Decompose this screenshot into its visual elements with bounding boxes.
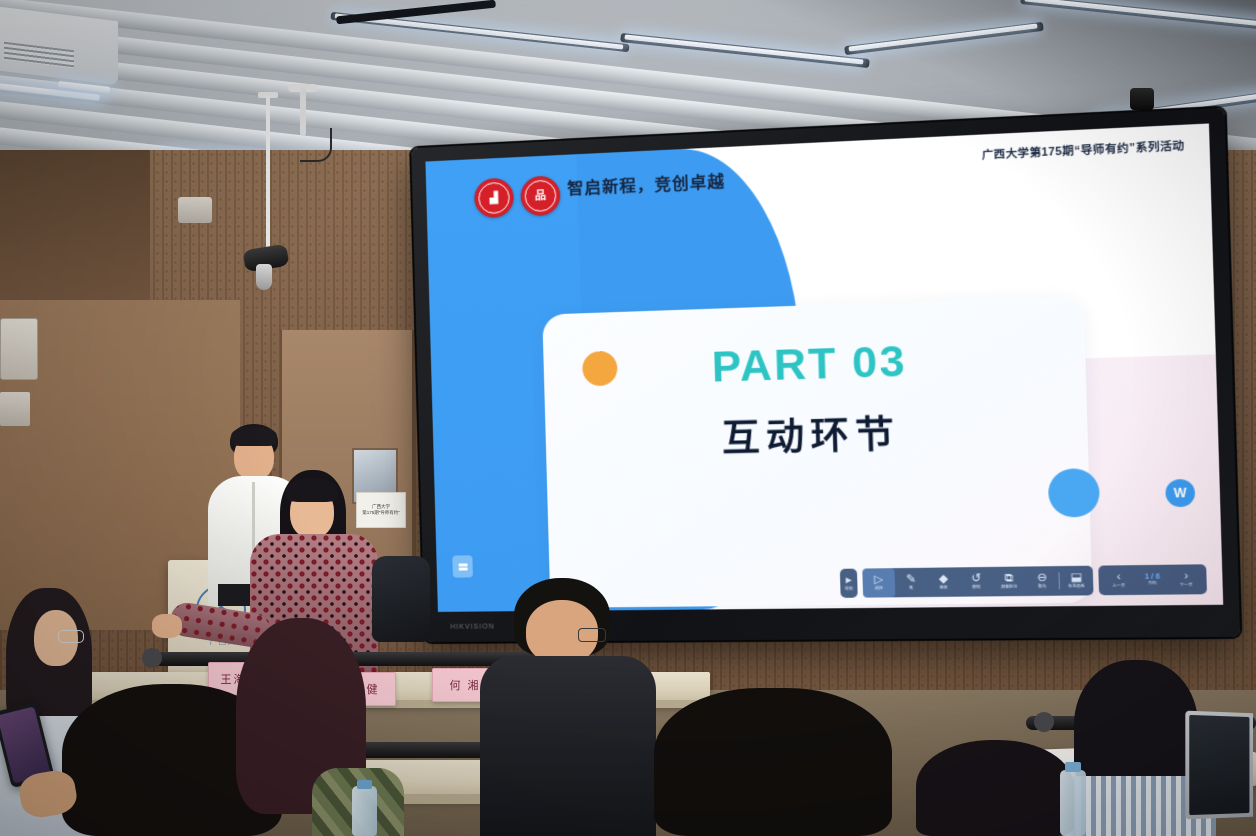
tool-undo-label: 撤销 — [972, 586, 980, 590]
chevron-right-icon: › — [1184, 571, 1188, 583]
cursor-icon: ▷ — [874, 575, 883, 587]
logo-left-glyph: ▟ — [490, 192, 499, 203]
slide-title: 智启新程，竞创卓越 — [567, 168, 726, 200]
slide-pager[interactable]: ‹ 上一页 1 / 6 页码 › 下一页 — [1098, 564, 1207, 595]
water-bottle-1-cap — [357, 780, 372, 789]
tool-whiteboard-label: 标准画板 — [1068, 585, 1085, 589]
male-fringe — [231, 426, 277, 446]
nameplate-3-text: 何 湘 — [449, 677, 480, 693]
collapse-label: 收起 — [845, 588, 853, 592]
desk-rail-cap-right — [1034, 712, 1054, 732]
collapse-arrow-icon: ▸ — [846, 575, 852, 586]
undo-icon: ↺ — [971, 574, 981, 586]
slide-corner-button[interactable] — [452, 555, 473, 577]
annotation-toolbar[interactable]: ▸ 收起 ▷ 选择 ✎ 笔 ◆ — [840, 564, 1207, 598]
prev-slide-label: 上一页 — [1113, 585, 1126, 589]
desk-rail-cap-1 — [142, 648, 162, 668]
audience-4-glasses-icon — [578, 628, 606, 642]
toolbar-tools-group[interactable]: ▷ 选择 ✎ 笔 ◆ 橡皮 ↺ 撤销 — [862, 566, 1093, 598]
laptop[interactable] — [1185, 711, 1253, 820]
water-bottle-2 — [1060, 770, 1086, 836]
eraser-icon: ◆ — [939, 574, 949, 586]
mic-pole — [266, 96, 270, 256]
audience-member-5 — [654, 688, 894, 836]
audience-5-hair — [654, 688, 892, 836]
slide-event-kicker: 广西大学第175期“导师有约”系列活动 — [981, 137, 1184, 162]
audience-4-torso — [480, 656, 656, 836]
prev-slide-button[interactable]: ‹ 上一页 — [1102, 565, 1136, 595]
toolbar-collapse-group[interactable]: ▸ 收起 — [840, 569, 858, 598]
tool-pen-label: 笔 — [909, 587, 913, 591]
tool-select-button[interactable]: ▷ 选择 — [862, 568, 895, 597]
university-logo-right-icon: 品 — [520, 175, 561, 216]
audience-member-4 — [486, 578, 646, 836]
logo-row: ▟ 品 — [474, 175, 561, 218]
organization-logo-left-icon: ▟ — [474, 177, 514, 218]
tool-spotlight-button[interactable]: ⊖ 聚光 — [1025, 566, 1059, 596]
interactive-smart-board[interactable]: PART 03 互动环节 ▟ 品 智启新程，竞创卓越 广西大 — [411, 108, 1240, 642]
whiteboard-icon: ⬓ — [1070, 572, 1082, 584]
ceiling-camera — [1130, 88, 1154, 110]
audience-1-glasses-icon — [58, 630, 84, 643]
mic-cable — [300, 128, 332, 162]
screen-annotate-icon: ⧉ — [1005, 573, 1014, 585]
pen-icon: ✎ — [906, 574, 916, 586]
tool-eraser-label: 橡皮 — [940, 587, 948, 591]
tool-whiteboard-button[interactable]: ⬓ 标准画板 — [1059, 566, 1093, 596]
wall-speaker — [178, 197, 212, 223]
wall-control-panel[interactable] — [0, 318, 38, 380]
audience-7-hair — [916, 740, 1074, 836]
female-fringe — [286, 478, 338, 502]
tool-screen-annotate-button[interactable]: ⧉ 屏幕批注 — [992, 567, 1026, 597]
board-screen[interactable]: PART 03 互动环节 ▟ 品 智启新程，竞创卓越 广西大 — [425, 123, 1223, 611]
next-slide-button[interactable]: › 下一页 — [1169, 564, 1204, 594]
water-bottle-2-cap — [1065, 762, 1081, 772]
water-bottle-1 — [352, 786, 377, 836]
laptop-screen[interactable] — [1189, 715, 1249, 815]
tool-pen-button[interactable]: ✎ 笔 — [894, 568, 927, 598]
tool-undo-button[interactable]: ↺ 撤销 — [959, 567, 993, 597]
spotlight-icon: ⊖ — [1037, 573, 1048, 585]
audience-member-7 — [916, 740, 1076, 836]
next-slide-label: 下一页 — [1180, 584, 1193, 588]
tool-eraser-button[interactable]: ◆ 橡皮 — [927, 567, 960, 597]
backpack — [372, 556, 430, 642]
lecture-hall-photo: 广西大学 第175期“导师有约” 16:28 43 PART 03 互动环节 — [0, 0, 1256, 836]
tool-spotlight-label: 聚光 — [1038, 585, 1046, 589]
page-indicator-label: 页码 — [1148, 582, 1157, 586]
tool-screen-annotate-label: 屏幕批注 — [1001, 586, 1018, 590]
female-hand — [152, 614, 182, 638]
wall-socket-plate[interactable] — [0, 392, 30, 426]
presentation-slide: PART 03 互动环节 ▟ 品 智启新程，竞创卓越 广西大 — [425, 123, 1223, 611]
chevron-left-icon: ‹ — [1116, 572, 1120, 584]
mic-capsule — [256, 264, 272, 290]
toolbar-collapse-button[interactable]: ▸ 收起 — [840, 569, 858, 598]
tool-select-label: 选择 — [875, 587, 883, 591]
logo-right-glyph: 品 — [535, 190, 546, 202]
page-indicator: 1 / 6 页码 — [1135, 565, 1170, 595]
